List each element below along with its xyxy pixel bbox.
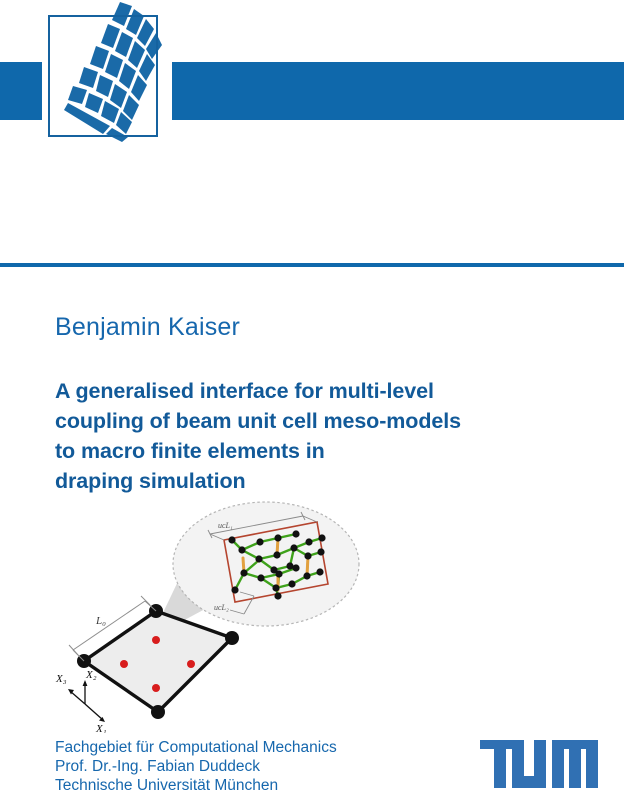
book-title: A generalised interface for multi-level … — [55, 376, 495, 496]
unit-cell-height-label: ucL₂ — [214, 603, 229, 612]
title-line-4: draping simulation — [55, 466, 495, 496]
meso-unit-cell-ellipse: ucL₁ ucL₂ — [173, 502, 359, 626]
axis-label-x3: X₃ — [55, 673, 67, 685]
institution-line-3: Technische Universität München — [55, 776, 337, 795]
title-line-2: coupling of beam unit cell meso-models — [55, 406, 495, 436]
logo-frame — [48, 15, 158, 137]
macro-element-quad — [84, 611, 232, 712]
coordinate-axes-triad: X₃ X₂ X₁ — [55, 669, 107, 733]
macro-edge-length-label: L₀ — [95, 615, 106, 627]
institution-line-1: Fachgebiet für Computational Mechanics — [55, 738, 337, 757]
axis-label-x2: X₂ — [85, 669, 97, 681]
institution-block: Fachgebiet für Computational Mechanics P… — [55, 738, 337, 795]
axis-label-x1: X₁ — [95, 723, 107, 733]
title-line-3: to macro finite elements in — [55, 436, 495, 466]
author-name: Benjamin Kaiser — [55, 313, 240, 342]
header-divider-rule — [0, 263, 624, 267]
institution-line-2: Prof. Dr.-Ing. Fabian Duddeck — [55, 757, 337, 776]
tum-wordmark-logo — [480, 740, 598, 788]
unit-cell-width-label: ucL₁ — [218, 521, 233, 530]
title-line-1: A generalised interface for multi-level — [55, 376, 495, 406]
cover-figure-multiscale-model: ucL₁ ucL₂ — [28, 498, 378, 733]
